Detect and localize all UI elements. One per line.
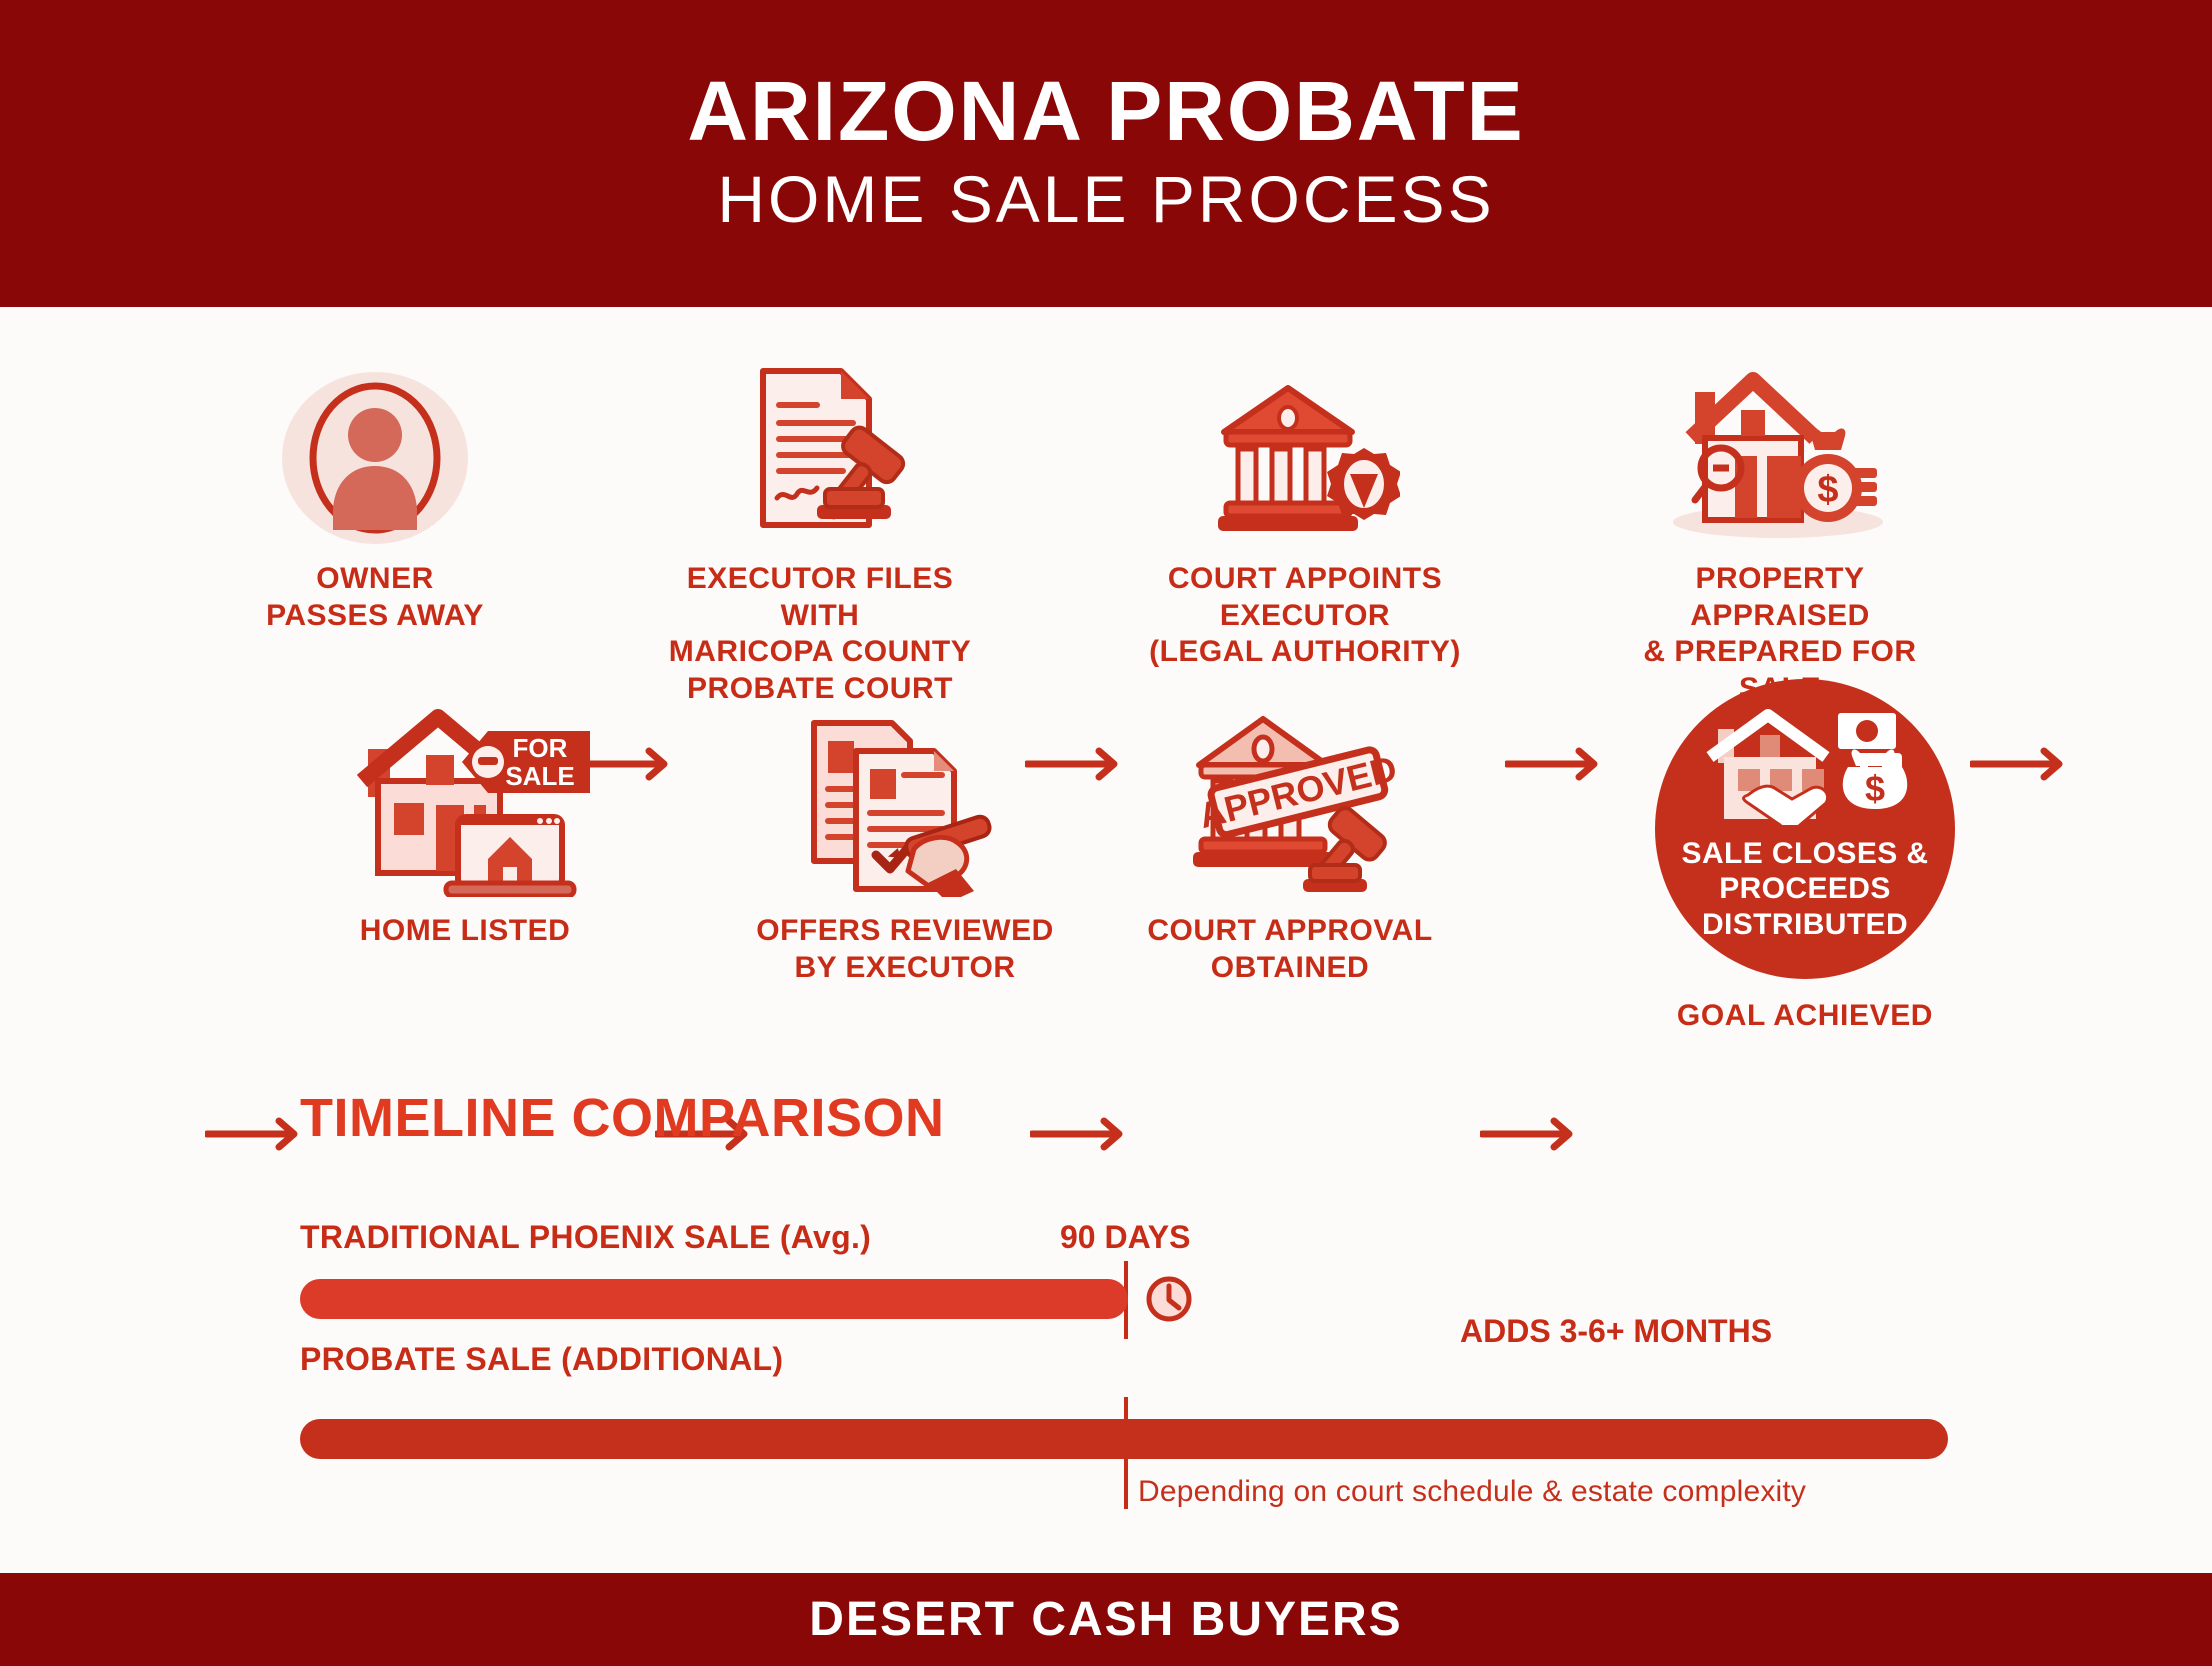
flow-step-offers-reviewed: OFFERS REVIEWED BY EXECUTOR xyxy=(755,707,1055,986)
page-subtitle: HOME SALE PROCESS xyxy=(717,166,1494,232)
goal-caption: SALE CLOSES & PROCEEDS DISTRIBUTED xyxy=(1682,836,1929,942)
flow-step-court-approval: APPROVED COURT APPROVAL OBTAINED xyxy=(1140,707,1440,986)
timeline-row-probate: PROBATE SALE (ADDITIONAL) ADDS 3-6+ MONT… xyxy=(300,1299,1960,1489)
flow-step-sale-closes: $ SALE CLOSES & PROCEEDS DISTRIBUTED GOA… xyxy=(1655,679,1955,1033)
svg-text:SALE: SALE xyxy=(505,761,574,791)
page-header: ARIZONA PROBATE HOME SALE PROCESS xyxy=(0,0,2212,307)
brand-name: DESERT CASH BUYERS xyxy=(809,1592,1402,1647)
flow-step-label: OWNER PASSES AWAY xyxy=(266,561,484,634)
timeline-row-label: TRADITIONAL PHOENIX SALE (Avg.) xyxy=(300,1219,871,1256)
page-title: ARIZONA PROBATE xyxy=(687,69,1524,155)
arrow-right-icon xyxy=(205,1117,310,1156)
goal-achieved-label: GOAL ACHIEVED xyxy=(1655,999,1955,1033)
svg-text:$: $ xyxy=(1817,469,1838,511)
person-portrait-icon xyxy=(280,355,470,545)
arrow-right-icon xyxy=(1505,747,1610,786)
flow-step-label: EXECUTOR FILES WITH MARICOPA COUNTY PROB… xyxy=(655,561,985,707)
page-footer: DESERT CASH BUYERS xyxy=(0,1573,2212,1666)
flow-step-label: COURT APPROVAL OBTAINED xyxy=(1147,913,1432,986)
courthouse-approved-stamp-icon: APPROVED xyxy=(1185,707,1395,897)
goal-circle: $ SALE CLOSES & PROCEEDS DISTRIBUTED xyxy=(1655,679,1955,979)
flow-step-property-appraised: $ PROPERTY APPRAISED & PREPARED FOR SALE xyxy=(1610,355,1950,707)
flow-step-executor-files: EXECUTOR FILES WITH MARICOPA COUNTY PROB… xyxy=(655,355,985,707)
flow-step-label: HOME LISTED xyxy=(360,913,571,950)
house-handshake-money-icon: $ xyxy=(1690,707,1920,830)
svg-text:$: $ xyxy=(1865,768,1885,809)
timeline-bar-probate xyxy=(300,1419,1948,1459)
timeline-note: Depending on court schedule & estate com… xyxy=(1138,1475,1806,1509)
timeline-row-traditional: TRADITIONAL PHOENIX SALE (Avg.) 90 DAYS xyxy=(300,1149,1960,1299)
timeline-comparison: TIMELINE COMPARISON TRADITIONAL PHOENIX … xyxy=(300,1087,1960,1489)
arrow-right-icon xyxy=(1970,747,2075,786)
flow-step-owner-passes-away: OWNER PASSES AWAY xyxy=(245,355,505,634)
house-for-sale-laptop-icon: FOR SALE xyxy=(340,707,590,897)
timeline-row-value: 90 DAYS xyxy=(1060,1219,1190,1256)
svg-text:FOR: FOR xyxy=(513,733,568,763)
flow-step-home-listed: FOR SALE HOME LISTED xyxy=(330,707,600,950)
documents-signing-hand-icon xyxy=(800,707,1010,897)
flow-step-label: OFFERS REVIEWED BY EXECUTOR xyxy=(756,913,1054,986)
flow-step-label: COURT APPOINTS EXECUTOR (LEGAL AUTHORITY… xyxy=(1149,561,1461,671)
timeline-row-label: PROBATE SALE (ADDITIONAL) xyxy=(300,1341,783,1378)
document-gavel-icon xyxy=(725,355,915,545)
infographic-body: OWNER PASSES AWAY xyxy=(0,307,2212,1573)
flow-step-court-appoints-executor: COURT APPOINTS EXECUTOR (LEGAL AUTHORITY… xyxy=(1140,355,1470,671)
house-appraisal-money-icon: $ xyxy=(1673,355,1888,545)
timeline-title: TIMELINE COMPARISON xyxy=(300,1087,1960,1149)
timeline-row-value: ADDS 3-6+ MONTHS xyxy=(1460,1313,1772,1350)
courthouse-seal-icon xyxy=(1210,355,1400,545)
